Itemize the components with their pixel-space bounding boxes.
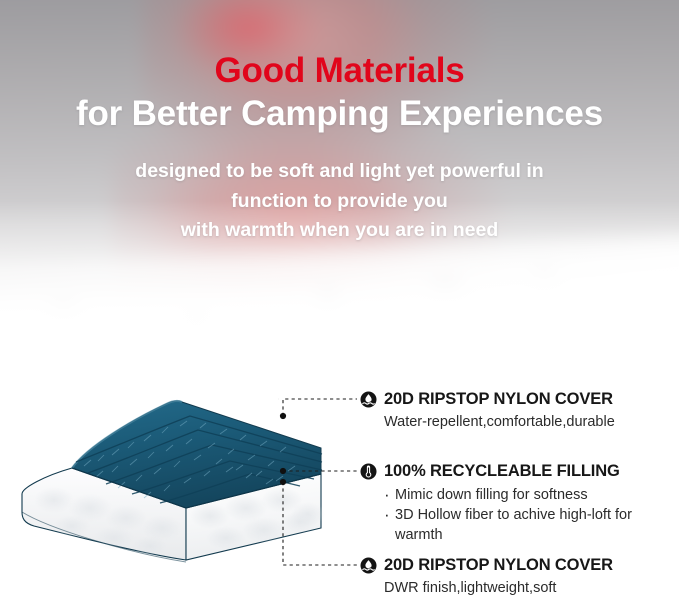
callout-bullet-list: Mimic down filling for softness 3D Hollo… xyxy=(384,485,679,545)
hero-subcopy-line-1: designed to be soft and light yet powerf… xyxy=(0,157,679,187)
headline-primary: Good Materials xyxy=(0,0,679,89)
callout-title: 20D RIPSTOP NYLON COVER xyxy=(384,390,613,409)
callout-bot: 20D RIPSTOP NYLON COVER DWR finish,light… xyxy=(360,556,613,598)
callout-subtitle: Water-repellent,comfortable,durable xyxy=(384,413,615,432)
water-repellent-icon xyxy=(360,391,377,408)
hero-subcopy-line-2: function to provide you xyxy=(0,187,679,217)
callout-bullet: Mimic down filling for softness xyxy=(384,485,679,505)
hero-subcopy-line-3: with warmth when you are in need xyxy=(0,216,679,246)
product-detail-section: 20D RIPSTOP NYLON COVER Water-repellent,… xyxy=(0,372,679,611)
headline-secondary: for Better Camping Experiences xyxy=(0,89,679,133)
water-repellent-icon xyxy=(360,557,377,574)
hero-banner: Good Materials for Better Camping Experi… xyxy=(0,0,679,372)
hero-subcopy: designed to be soft and light yet powerf… xyxy=(0,133,679,246)
callout-mid: 100% RECYCLEABLE FILLING Mimic down fill… xyxy=(360,462,679,545)
callout-bullet: 3D Hollow fiber to achive high-loft for … xyxy=(384,505,679,545)
sleeping-pad-cutaway-illustration xyxy=(14,376,344,572)
callout-subtitle: DWR finish,lightweight,soft xyxy=(384,579,613,598)
callout-title: 100% RECYCLEABLE FILLING xyxy=(384,462,620,481)
callout-top: 20D RIPSTOP NYLON COVER Water-repellent,… xyxy=(360,390,615,432)
callout-title: 20D RIPSTOP NYLON COVER xyxy=(384,556,613,575)
hero-text-block: Good Materials for Better Camping Experi… xyxy=(0,0,679,246)
product-feature-infographic: Good Materials for Better Camping Experi… xyxy=(0,0,679,611)
thermometer-icon xyxy=(360,463,377,480)
